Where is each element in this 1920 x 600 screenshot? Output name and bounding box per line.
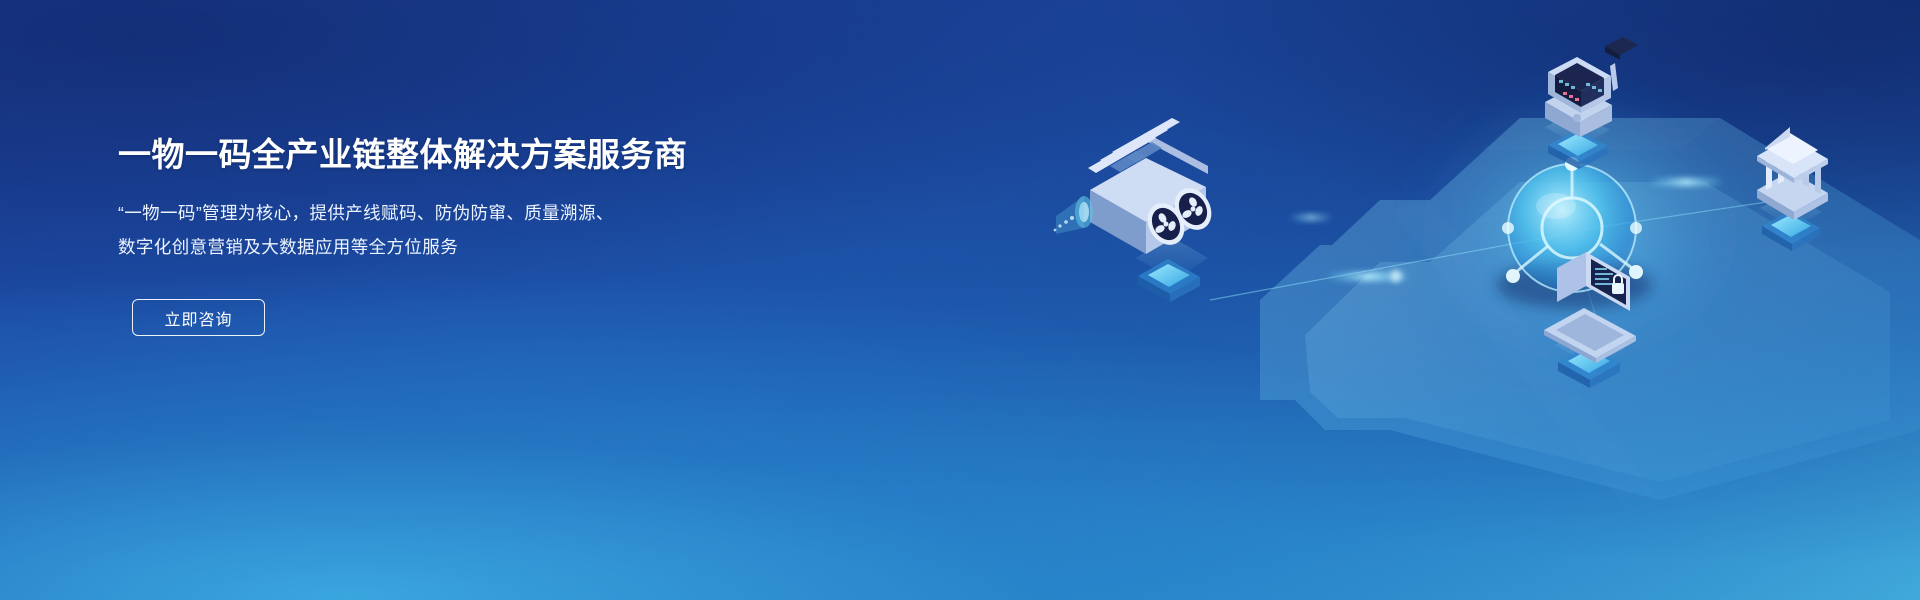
data-packet: [1290, 214, 1332, 221]
hero-illustration: [960, 0, 1920, 600]
node-pedestal: [1762, 211, 1820, 251]
isometric-platform: [1260, 118, 1920, 500]
bank-building-icon: [1757, 127, 1828, 251]
platform-light-streaks: [1390, 118, 1720, 500]
fan: [1140, 196, 1191, 251]
page-title: 一物一码全产业链整体解决方案服务商: [118, 132, 778, 178]
subtitle-line-2: 数字化创意营销及大数据应用等全方位服务: [118, 230, 658, 264]
subtitle-line-1: “一物一码”管理为核心，提供产线赋码、防伪防窜、质量溯源、: [118, 196, 658, 230]
node-pedestal: [1138, 259, 1200, 302]
signal-emitter: [1054, 196, 1093, 234]
data-packet: [1328, 270, 1410, 282]
laptop-lock-icon: [1544, 252, 1636, 388]
hero-copy: 一物一码全产业链整体解决方案服务商 “一物一码”管理为核心，提供产线赋码、防伪防…: [118, 132, 778, 336]
node-pedestal: [1558, 345, 1620, 388]
pos-terminal-icon: [1545, 37, 1638, 169]
hero-banner: 一物一码全产业链整体解决方案服务商 “一物一码”管理为核心，提供产线赋码、防伪防…: [0, 0, 1920, 600]
sphere-ambient-glow: [1400, 80, 1760, 380]
hero-subtitle: “一物一码”管理为核心，提供产线赋码、防伪防窜、质量溯源、 数字化创意营销及大数…: [118, 196, 658, 264]
lock-icon: [1612, 275, 1624, 294]
server-fan-rack-icon: [1054, 118, 1220, 302]
data-packet: [1650, 178, 1722, 186]
glowing-network-sphere: [1496, 157, 1652, 309]
data-packet: [1572, 96, 1582, 122]
node-pedestal: [1548, 130, 1608, 169]
network-connection-lines: [1210, 96, 1780, 330]
fan: [1167, 181, 1218, 236]
consult-now-button[interactable]: 立即咨询: [132, 299, 265, 336]
